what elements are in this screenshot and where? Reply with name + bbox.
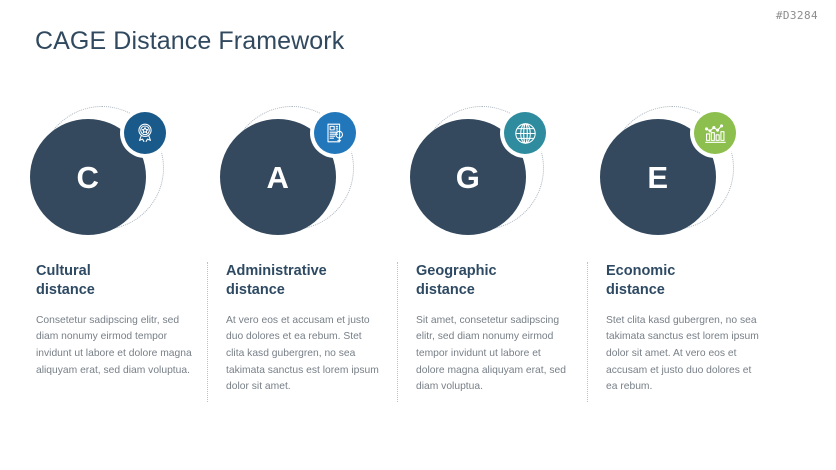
column-body-text: Sit amet, consetetur sadipscing elitr, s… bbox=[416, 313, 572, 396]
text-block-cultural: Cultural distance Consetetur sadipscing … bbox=[36, 262, 192, 379]
columns-container: C bbox=[0, 0, 836, 470]
heading-line-1: Geographic bbox=[416, 263, 497, 279]
letter-label: A bbox=[267, 160, 290, 196]
column-heading: Cultural distance bbox=[36, 262, 192, 301]
column-heading: Geographic distance bbox=[416, 262, 572, 301]
badge-fill bbox=[314, 112, 356, 154]
heading-line-2: distance bbox=[36, 281, 192, 300]
column-body-text: At vero eos et accusam et justo duo dolo… bbox=[226, 313, 382, 396]
text-block-economic: Economic distance Stet clita kasd guberg… bbox=[606, 262, 762, 396]
badge-fill bbox=[124, 112, 166, 154]
globe-icon bbox=[513, 121, 538, 146]
badge-economic[interactable] bbox=[690, 108, 740, 158]
badge-cultural[interactable] bbox=[120, 108, 170, 158]
column-heading: Administrative distance bbox=[226, 262, 382, 301]
heading-line-1: Economic bbox=[606, 263, 675, 279]
badge-geographic[interactable] bbox=[500, 108, 550, 158]
letter-label: G bbox=[456, 160, 481, 196]
document-search-icon bbox=[323, 121, 347, 145]
award-ribbon-icon bbox=[133, 121, 157, 145]
column-body-text: Stet clita kasd gubergren, no sea takima… bbox=[606, 313, 762, 396]
circle-graphic-administrative: A bbox=[216, 105, 371, 235]
badge-administrative[interactable] bbox=[310, 108, 360, 158]
heading-line-2: distance bbox=[606, 281, 762, 300]
text-block-geographic: Geographic distance Sit amet, consetetur… bbox=[416, 262, 572, 396]
heading-line-1: Cultural bbox=[36, 263, 91, 279]
column-economic[interactable]: E bbox=[578, 0, 768, 470]
column-administrative[interactable]: A bbox=[198, 0, 388, 470]
bar-chart-icon bbox=[703, 121, 728, 146]
circle-graphic-geographic: G bbox=[406, 105, 561, 235]
circle-graphic-economic: E bbox=[596, 105, 751, 235]
badge-fill bbox=[694, 112, 736, 154]
column-heading: Economic distance bbox=[606, 262, 762, 301]
badge-fill bbox=[504, 112, 546, 154]
letter-label: E bbox=[647, 160, 668, 196]
column-cultural[interactable]: C bbox=[8, 0, 198, 470]
slide-canvas: #D3284 CAGE Distance Framework C bbox=[0, 0, 836, 470]
heading-line-2: distance bbox=[226, 281, 382, 300]
circle-graphic-cultural: C bbox=[26, 105, 181, 235]
text-block-administrative: Administrative distance At vero eos et a… bbox=[226, 262, 382, 396]
heading-line-2: distance bbox=[416, 281, 572, 300]
column-body-text: Consetetur sadipscing elitr, sed diam no… bbox=[36, 313, 192, 380]
letter-label: C bbox=[77, 160, 100, 196]
column-geographic[interactable]: G bbox=[388, 0, 578, 470]
heading-line-1: Administrative bbox=[226, 263, 327, 279]
